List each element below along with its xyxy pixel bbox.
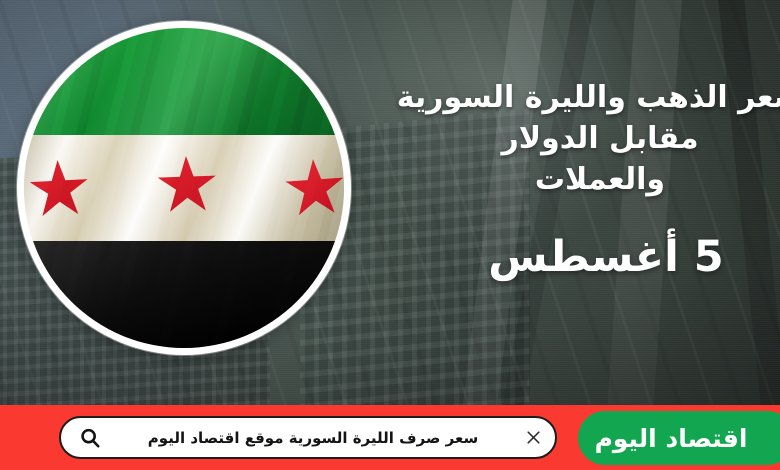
flag-fabric-folds: [24, 28, 344, 348]
flag-disc: [24, 28, 344, 348]
dateline: 5 أغسطس: [350, 234, 780, 281]
headline-line-2: مقابل الدولار: [350, 119, 780, 160]
bottom-action-bar: سعر صرف الليرة السورية موقع اقتصاد اليوم…: [0, 405, 780, 470]
brand-label: اقتصاد اليوم: [595, 424, 748, 453]
headline-line-1: سعر الذهب والليرة السورية: [350, 78, 780, 119]
page-title: سعر الذهب والليرة السورية مقابل الدولار …: [350, 78, 780, 200]
headline-block: سعر الذهب والليرة السورية مقابل الدولار …: [350, 78, 780, 282]
close-icon[interactable]: [525, 429, 542, 446]
search-icon: [79, 427, 101, 449]
economy-promo-card: سعر الذهب والليرة السورية مقابل الدولار …: [0, 0, 780, 470]
syria-flag-badge: [17, 21, 351, 355]
headline-line-3: والعملات: [350, 160, 780, 201]
brand-badge[interactable]: اقتصاد اليوم: [578, 411, 780, 465]
search-input[interactable]: سعر صرف الليرة السورية موقع اقتصاد اليوم: [101, 429, 525, 447]
search-bar[interactable]: سعر صرف الليرة السورية موقع اقتصاد اليوم: [59, 416, 557, 459]
